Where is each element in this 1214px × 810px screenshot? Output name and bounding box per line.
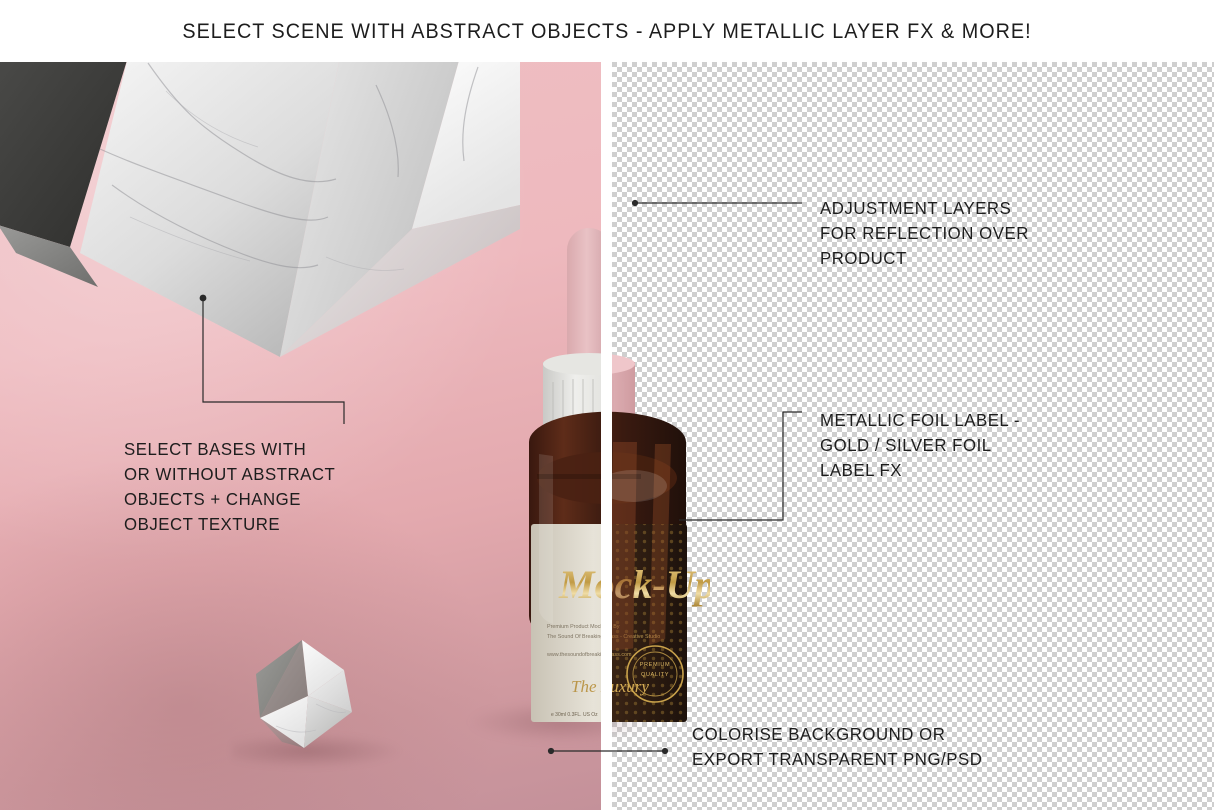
annotation-line: EXPORT TRANSPARENT PNG/PSD (692, 747, 982, 772)
large-marble-polyhedron (0, 62, 520, 387)
annotation-line: ADJUSTMENT LAYERS (820, 196, 1029, 221)
svg-text:QUALITY: QUALITY (641, 672, 669, 678)
annotation-line: OBJECT TEXTURE (124, 512, 335, 537)
page-title: SELECT SCENE WITH ABSTRACT OBJECTS - APP… (49, 0, 1166, 62)
annotation-line: COLORISE BACKGROUND OR (692, 722, 982, 747)
annotation-metallic-foil-label: METALLIC FOIL LABEL - GOLD / SILVER FOIL… (820, 408, 1028, 483)
svg-text:e 30ml 0.3FL. US Oz: e 30ml 0.3FL. US Oz (551, 712, 598, 718)
annotation-line: GOLD / SILVER FOIL (820, 433, 1020, 458)
annotation-line: OBJECTS + CHANGE (124, 487, 335, 512)
annotation-select-bases: SELECT BASES WITH OR WITHOUT ABSTRACT OB… (124, 437, 344, 537)
small-marble-polyhedron (246, 634, 366, 754)
mockup-preview-canvas: SELECT SCENE WITH ABSTRACT OBJECTS - APP… (0, 0, 1214, 810)
annotation-line: SELECT BASES WITH (124, 437, 335, 462)
annotation-line: METALLIC FOIL LABEL - (820, 408, 1020, 433)
annotation-colorise-background: COLORISE BACKGROUND OR EXPORT TRANSPAREN… (692, 722, 994, 772)
split-divider (601, 62, 612, 810)
annotation-line: PRODUCT (820, 246, 1029, 271)
svg-text:PREMIUM: PREMIUM (640, 662, 671, 668)
annotation-line: FOR REFLECTION OVER (820, 221, 1029, 246)
scene-area: Mock-Up Premium Product Mock-Up By The S… (0, 62, 1214, 810)
annotation-line: LABEL FX (820, 458, 1020, 483)
annotation-line: OR WITHOUT ABSTRACT (124, 462, 335, 487)
annotation-adjustment-layers: ADJUSTMENT LAYERS FOR REFLECTION OVER PR… (820, 196, 1038, 271)
